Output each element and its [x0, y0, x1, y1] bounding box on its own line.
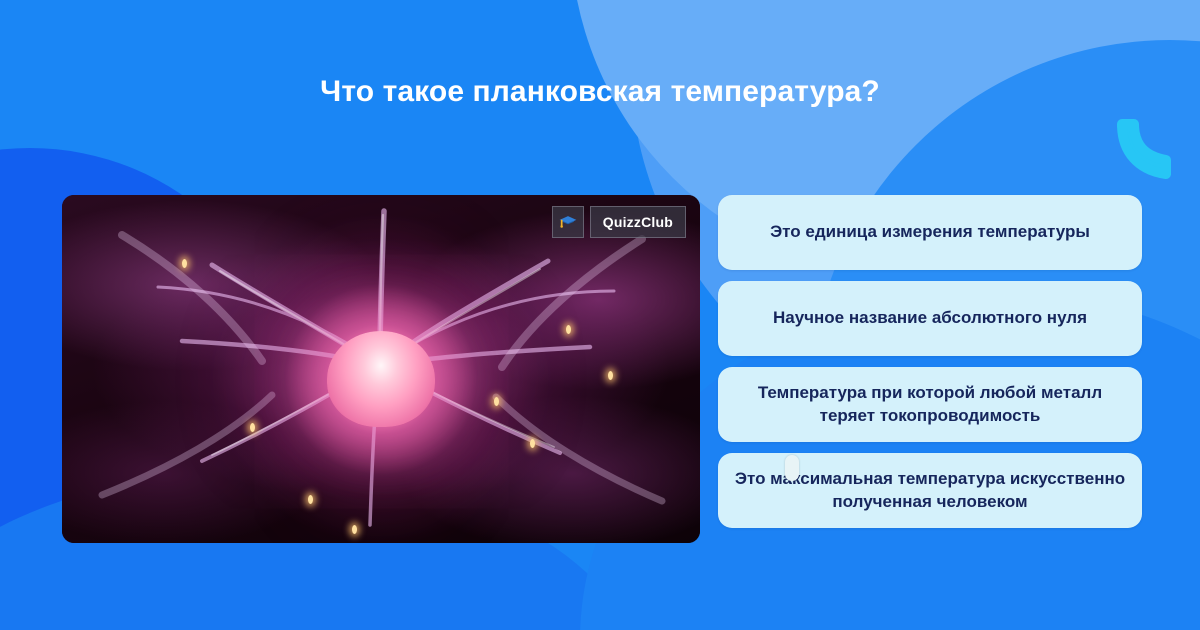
spark-dot	[352, 525, 357, 534]
spark-dot	[566, 325, 571, 334]
answer-option-4[interactable]: Это максимальная температура искусственн…	[718, 453, 1142, 528]
spark-dot	[608, 371, 613, 380]
spark-dot	[250, 423, 255, 432]
watermark: QuizzClub	[552, 206, 686, 238]
answer-option-3[interactable]: Температура при которой любой металл тер…	[718, 367, 1142, 442]
spark-dot	[530, 439, 535, 448]
page-title: Что такое планковская температура?	[0, 74, 1200, 110]
question-image: QuizzClub	[62, 195, 700, 543]
plasma-core	[327, 331, 435, 427]
answer-option-2-label: Научное название абсолютного нуля	[773, 307, 1087, 330]
graduation-cap-icon	[552, 206, 584, 238]
quiz-poster: Что такое планковская температура?	[0, 0, 1200, 630]
spark-dot	[308, 495, 313, 504]
watermark-brand: QuizzClub	[590, 206, 686, 238]
answer-option-2[interactable]: Научное название абсолютного нуля	[718, 281, 1142, 356]
answer-option-1[interactable]: Это единица измерения температуры	[718, 195, 1142, 270]
spark-dot	[182, 259, 187, 268]
answer-option-1-label: Это единица измерения температуры	[770, 221, 1090, 244]
spark-dot	[494, 397, 499, 406]
answer-option-3-label: Температура при которой любой металл тер…	[734, 382, 1126, 427]
crescent-arc-icon	[1112, 118, 1176, 182]
scroll-nub-handle[interactable]	[785, 455, 799, 481]
answer-options-list: Это единица измерения температуры Научно…	[718, 195, 1142, 528]
quiz-content: QuizzClub Это единица измерения температ…	[0, 195, 1200, 555]
